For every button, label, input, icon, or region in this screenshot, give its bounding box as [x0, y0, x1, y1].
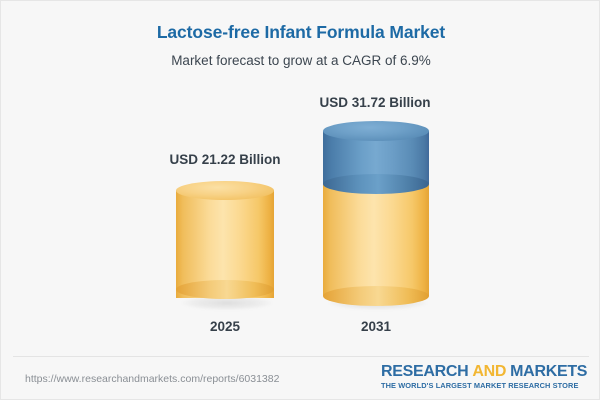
bar-category-label-2031: 2031: [323, 319, 429, 334]
segment-bottom-cap: [323, 174, 429, 194]
logo-word-research: RESEARCH: [381, 363, 468, 380]
research-and-markets-logo[interactable]: RESEARCHANDMARKETS THE WORLD'S LARGEST M…: [381, 363, 577, 391]
source-url-link[interactable]: https://www.researchandmarkets.com/repor…: [25, 373, 279, 385]
segment-bottom-cap: [323, 286, 429, 306]
bar-2031: [323, 121, 429, 306]
logo-wordmark: RESEARCHANDMARKETS: [381, 363, 577, 380]
logo-word-markets: MARKETS: [510, 363, 587, 380]
bar-value-label-2031: USD 31.72 Billion: [299, 95, 451, 110]
segment-top-cap: [323, 121, 429, 141]
segment-bottom-cap: [176, 280, 274, 299]
bar-2025: [176, 181, 274, 306]
segment-top-cap: [176, 181, 274, 200]
bar-category-label-2025: 2025: [176, 319, 274, 334]
page-title: Lactose-free Infant Formula Market: [1, 22, 600, 43]
segment-body: [323, 183, 429, 296]
footer-divider: [13, 356, 589, 357]
logo-tagline: THE WORLD'S LARGEST MARKET RESEARCH STOR…: [381, 381, 577, 391]
infographic-canvas: Lactose-free Infant Formula Market Marke…: [0, 0, 600, 400]
page-subtitle: Market forecast to grow at a CAGR of 6.9…: [1, 53, 600, 68]
logo-word-and: AND: [472, 363, 506, 380]
bar-value-label-2025: USD 21.22 Billion: [149, 152, 301, 167]
